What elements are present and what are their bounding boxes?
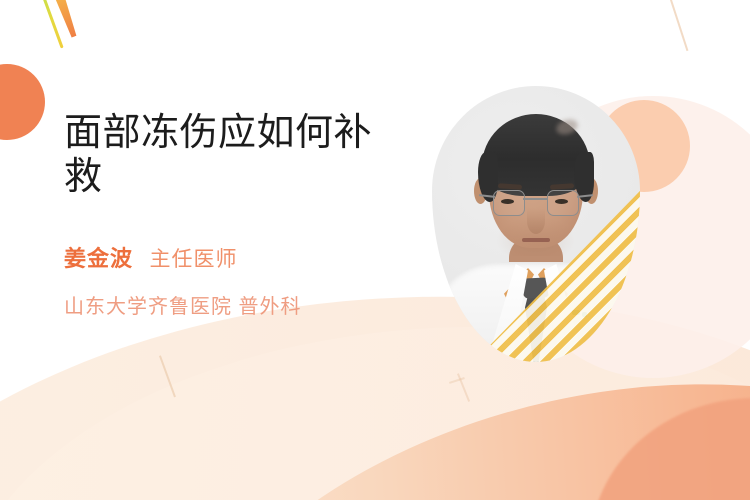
page-title: 面部冻伤应如何补救 xyxy=(64,112,404,199)
text-block: 面部冻伤应如何补救 姜金波 主任医师 山东大学齐鲁医院 普外科 xyxy=(64,112,404,319)
doctor-title: 主任医师 xyxy=(149,248,237,271)
mouth-shape xyxy=(522,238,550,242)
glasses-lens-left xyxy=(493,190,525,216)
doctor-portrait-photo xyxy=(432,86,640,362)
diagonal-hairline-icon xyxy=(668,0,688,51)
health-article-cover-card: 面部冻伤应如何补救 姜金波 主任医师 山东大学齐鲁医院 普外科 xyxy=(0,0,750,500)
orange-circle-decoration xyxy=(0,64,45,140)
doctor-credentials: 姜金波 主任医师 xyxy=(64,241,404,273)
doctor-name: 姜金波 xyxy=(64,246,133,271)
glasses-lens-right xyxy=(547,190,579,216)
nose-shape xyxy=(527,208,545,234)
doctor-hospital-department: 山东大学齐鲁医院 普外科 xyxy=(64,290,404,319)
glasses-bridge xyxy=(523,198,547,200)
